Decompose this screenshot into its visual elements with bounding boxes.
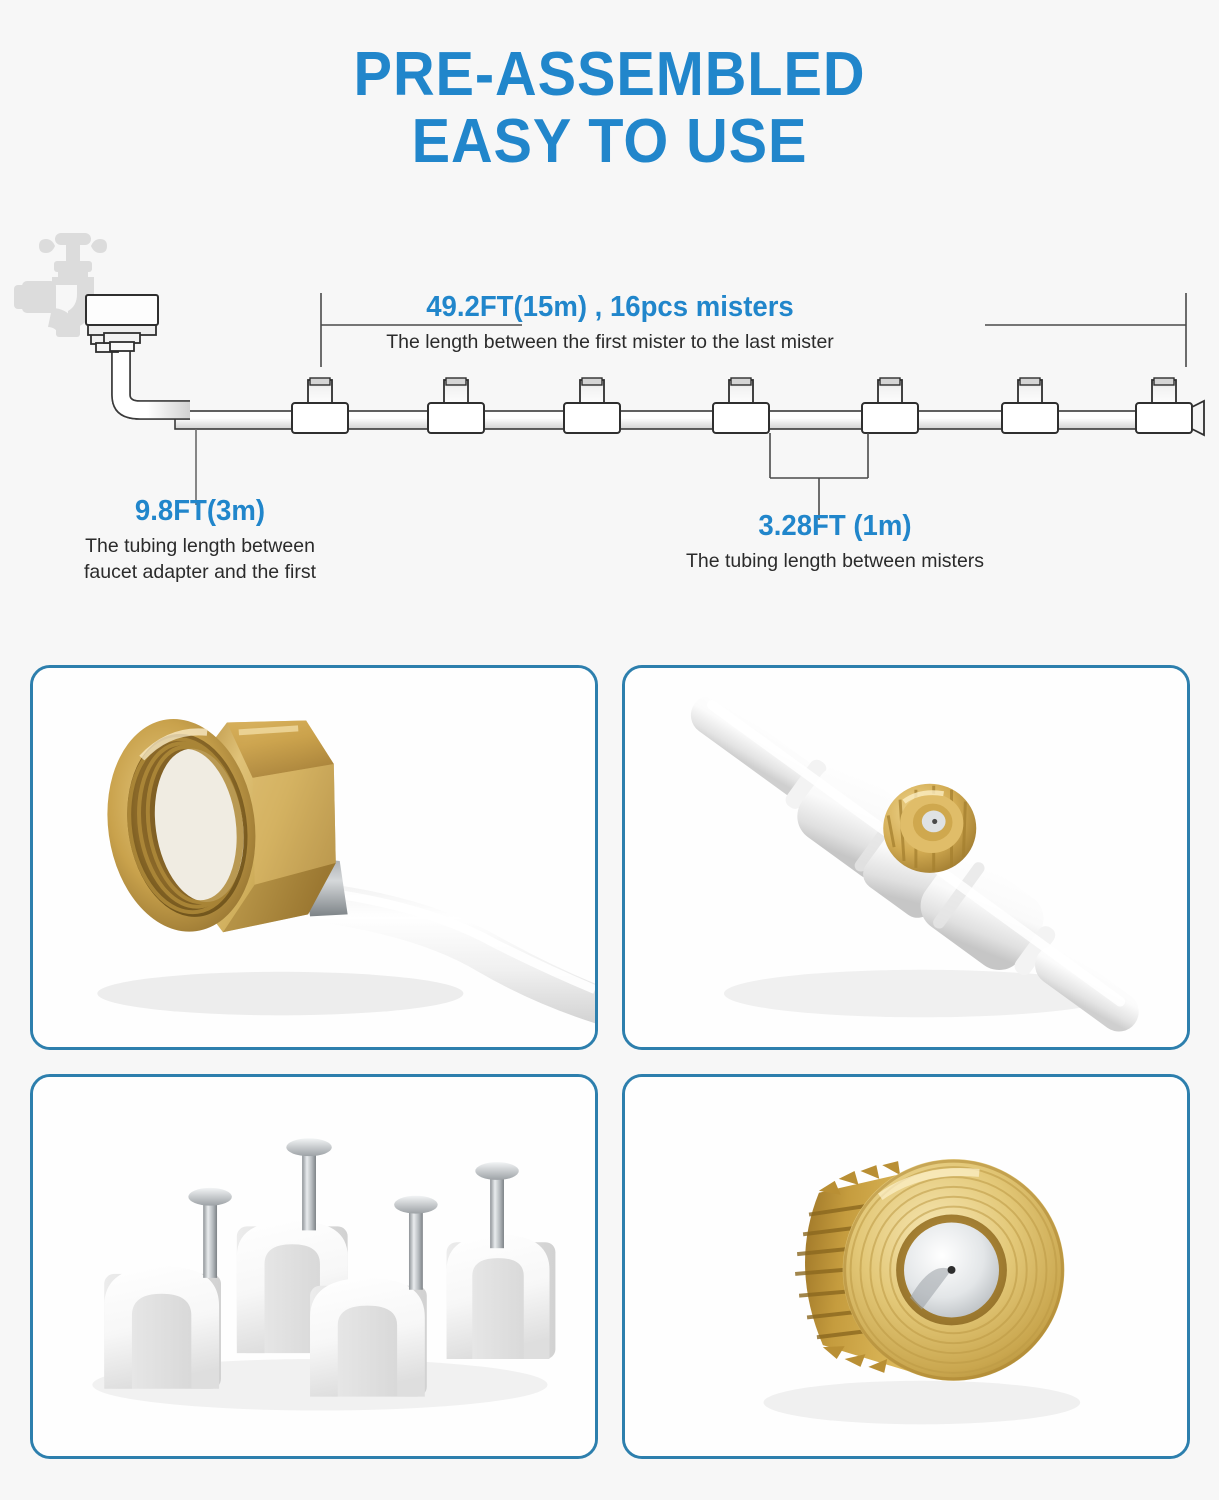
feed-length-description-line-2: faucet adapter and the first bbox=[84, 561, 316, 583]
nail-head bbox=[475, 1162, 519, 1180]
page-title: PRE-ASSEMBLED EASY TO USE bbox=[43, 42, 1177, 176]
mister-tee-connector-photo bbox=[622, 665, 1190, 1050]
nail-shaft bbox=[302, 1147, 316, 1230]
nail-head bbox=[286, 1138, 332, 1156]
product-photo-grid bbox=[30, 665, 1190, 1470]
mister-spacing-bracket bbox=[770, 433, 868, 520]
orifice-hole bbox=[948, 1266, 956, 1274]
end-cap-icon bbox=[1192, 401, 1204, 435]
feed-length-value: 9.8FT(3m) bbox=[39, 495, 362, 528]
infographic-page: PRE-ASSEMBLED EASY TO USE bbox=[0, 0, 1219, 1500]
title-line-2: EASY TO USE bbox=[43, 109, 1177, 176]
mister-tee bbox=[292, 378, 348, 433]
misting-line-diagram: 49.2FT(15m) , 16pcs misters The length b… bbox=[0, 215, 1219, 625]
mister-tee-group bbox=[292, 378, 1192, 433]
nail-head bbox=[188, 1188, 232, 1206]
faucet-adapter-icon bbox=[86, 295, 158, 352]
mister-spacing-description: The tubing length between misters bbox=[640, 548, 1030, 574]
mister-spacing-value: 3.28FT (1m) bbox=[650, 510, 1021, 543]
nail-shaft bbox=[490, 1171, 504, 1248]
feed-length-description-line-1: The tubing length between bbox=[85, 535, 315, 557]
mister-tee bbox=[564, 378, 620, 433]
total-length-dimension: 49.2FT(15m) , 16pcs misters The length b… bbox=[300, 291, 920, 355]
total-length-value: 49.2FT(15m) , 16pcs misters bbox=[316, 291, 905, 324]
brass-nozzle-icon bbox=[883, 784, 976, 873]
nail-head bbox=[394, 1196, 438, 1214]
feed-length-description: The tubing length between faucet adapter… bbox=[30, 533, 370, 586]
total-length-description: The length between the first mister to t… bbox=[300, 329, 920, 355]
brass-nozzle-closeup-photo bbox=[622, 1074, 1190, 1459]
mister-spacing-dimension: 3.28FT (1m) The tubing length between mi… bbox=[640, 510, 1030, 574]
mister-tee bbox=[713, 378, 769, 433]
mister-tee bbox=[1136, 378, 1192, 433]
mister-tee bbox=[862, 378, 918, 433]
title-line-1: PRE-ASSEMBLED bbox=[354, 40, 866, 109]
feed-length-dimension: 9.8FT(3m) The tubing length between fauc… bbox=[30, 495, 370, 586]
mister-tee bbox=[1002, 378, 1058, 433]
nail-shaft bbox=[409, 1205, 423, 1290]
mister-tee bbox=[428, 378, 484, 433]
cable-clips-photo bbox=[30, 1074, 598, 1459]
brass-nozzle-body bbox=[795, 1159, 1064, 1381]
nail-shaft bbox=[203, 1197, 217, 1278]
brass-faucet-adapter-photo bbox=[30, 665, 598, 1050]
